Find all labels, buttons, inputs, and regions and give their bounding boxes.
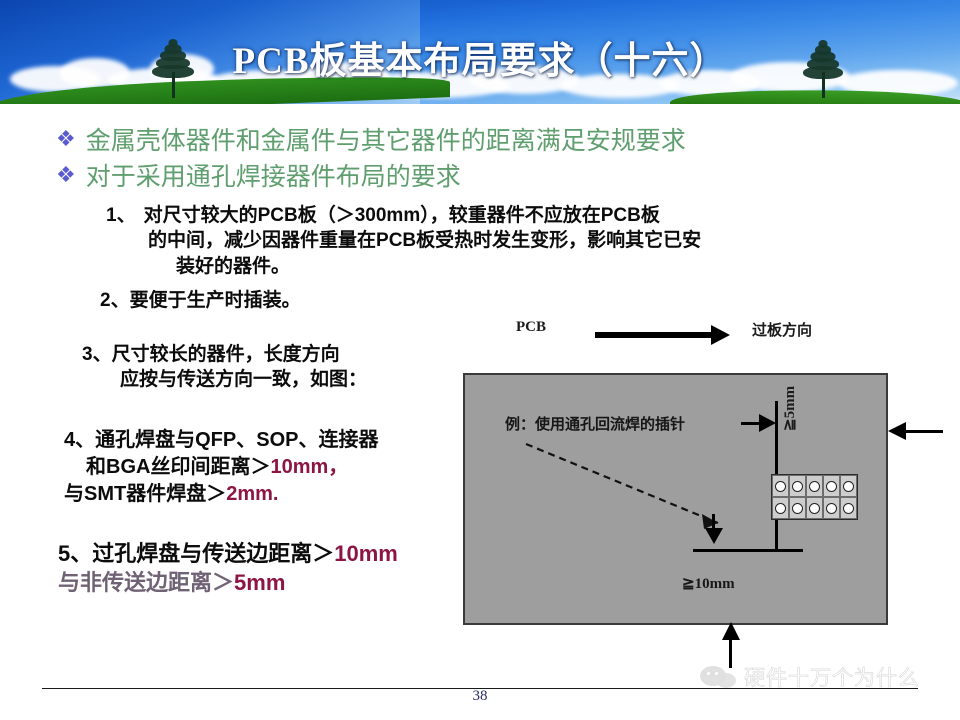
item-4-l1b: QFP、SOP <box>195 429 298 451</box>
item-3-line-1: 3、尺寸较长的器件，长度方向 <box>82 342 367 367</box>
bullet-item-1: ❖ 金属壳体器件和金属件与其它器件的距离满足安规要求 <box>56 128 686 156</box>
pin-cell <box>806 497 823 519</box>
pin-cell <box>823 475 840 497</box>
bottom-dim-line <box>693 549 803 552</box>
header-banner: PCB板基本布局要求（十六） <box>0 0 960 104</box>
page-title: PCB板基本布局要求（十六） <box>0 30 960 84</box>
item-2-label: 要便于生产时插装。 <box>130 290 301 311</box>
pin-cell <box>772 497 789 519</box>
item-1-line-3: 装好的器件。 <box>106 254 701 279</box>
item-1-l2a: 的中间，减少因器件重量在 <box>148 230 376 251</box>
watermark-label: 硬件十万个为什么 <box>744 662 920 692</box>
numbered-item-5: 5、过孔焊盘与传送边距离＞10mm 与非传送边距离＞5mm <box>58 539 398 598</box>
outer-right-arrow-stem <box>905 430 943 433</box>
inner-right-arrow-head <box>759 414 776 432</box>
pin-hole-icon <box>826 503 837 514</box>
item-4-dim-2mm: 2mm. <box>226 483 278 505</box>
diagram-pcb-label: PCB <box>516 319 546 336</box>
item-4-l2c: 丝印间距离＞ <box>150 456 270 478</box>
pin-hole-icon <box>809 503 820 514</box>
item-3-l1: 尺寸较长的器件，长度方向 <box>112 344 340 365</box>
pin-hole-icon <box>775 503 786 514</box>
item-4-l1a: 通孔焊盘与 <box>95 429 195 451</box>
item-1-l1e: ），较重器件不应放在 <box>420 205 601 226</box>
item-4-dim-10mm: 10mm， <box>270 456 348 478</box>
item-1-l1g: 板 <box>641 205 660 226</box>
item-1-number: 1、 <box>106 205 136 226</box>
item-1-l2c: 板受热时发生变形，影响其它已安 <box>416 230 701 251</box>
item-5-dim-10mm: 10mm <box>334 541 398 566</box>
item-4-line-3: 与SMT器件焊盘＞2mm. <box>64 481 378 508</box>
item-5-l2a: 与非传送边距离＞ <box>58 570 234 595</box>
item-4-number: 4、 <box>64 429 95 451</box>
item-5-line-1: 5、过孔焊盘与传送边距离＞10mm <box>58 539 398 568</box>
item-4-l2a: 和 <box>86 456 106 478</box>
diamond-bullet-icon: ❖ <box>56 128 76 153</box>
pin-hole-icon <box>792 503 803 514</box>
bottom-dim-arrow-stem <box>712 514 715 532</box>
watermark: 硬件十万个为什么 <box>700 662 920 692</box>
wechat-bubble-icon <box>700 664 740 690</box>
item-4-l3a: 与 <box>64 483 84 505</box>
item-3-l2: 应按与传送方向一致，如图： <box>120 369 367 390</box>
item-5-number: 5、 <box>58 541 92 566</box>
item-3-number: 3、 <box>82 344 112 365</box>
diagram-direction-label: 过板方向 <box>752 319 812 340</box>
item-4-l2b: BGA <box>106 456 150 478</box>
pin-hole-icon <box>843 503 854 514</box>
numbered-item-3: 3、尺寸较长的器件，长度方向 应按与传送方向一致，如图： <box>82 342 367 393</box>
pin-hole-icon <box>826 481 837 492</box>
item-5-l1a: 过孔焊盘与传送边距离＞ <box>92 541 334 566</box>
numbered-item-2: 2、要便于生产时插装。 <box>100 288 301 313</box>
item-4-l3b: SMT <box>84 483 126 505</box>
slide-root: PCB板基本布局要求（十六） ❖ 金属壳体器件和金属件与其它器件的距离满足安规要… <box>0 0 960 720</box>
item-4-line-1: 4、通孔焊盘与QFP、SOP、连接器 <box>64 427 378 454</box>
diagram-dim-right-label: ≧5mm <box>780 386 799 431</box>
through-hole-connector <box>771 474 858 520</box>
item-1-l2b: PCB <box>376 230 416 251</box>
pin-cell <box>772 475 789 497</box>
outer-right-arrow-head <box>888 422 906 440</box>
item-1-l1a: 对尺寸较大的 <box>144 205 258 226</box>
item-1-line-2: 的中间，减少因器件重量在PCB板受热时发生变形，影响其它已安 <box>106 228 701 253</box>
numbered-item-1: 1、对尺寸较大的PCB板（＞300mm），较重器件不应放在PCB板 的中间，减少… <box>106 203 701 279</box>
item-5-line-2: 与非传送边距离＞5mm <box>58 568 398 597</box>
item-4-l3c: 器件焊盘＞ <box>126 483 226 505</box>
pin-cell <box>806 475 823 497</box>
item-1-l3: 装好的器件。 <box>176 256 290 277</box>
item-4-l1c: 、连接器 <box>298 429 378 451</box>
pin-hole-icon <box>775 481 786 492</box>
direction-arrow-shaft <box>595 332 715 338</box>
pin-hole-icon <box>792 481 803 492</box>
bullet-item-2-label: 对于采用通孔焊接器件布局的要求 <box>86 164 461 192</box>
outer-bottom-arrow-head <box>722 622 740 640</box>
pin-cell <box>789 475 806 497</box>
direction-arrow-head <box>711 325 730 345</box>
diamond-bullet-icon: ❖ <box>56 164 76 189</box>
bullet-item-1-label: 金属壳体器件和金属件与其它器件的距离满足安规要求 <box>86 128 686 156</box>
pin-cell <box>840 497 857 519</box>
item-4-line-2: 和BGA丝印间距离＞10mm， <box>64 454 378 481</box>
pin-cell <box>789 497 806 519</box>
item-1-l1f: PCB <box>601 205 641 226</box>
item-5-dim-5mm: 5mm <box>234 570 285 595</box>
item-1-l1d: 300mm <box>355 205 421 226</box>
note-leader-line <box>518 430 758 540</box>
item-1-l1c: 板（＞ <box>298 205 355 226</box>
pin-hole-icon <box>809 481 820 492</box>
item-3-line-2: 应按与传送方向一致，如图： <box>82 367 367 392</box>
item-2-number: 2、 <box>100 290 130 311</box>
diagram-dim-bottom-label: ≧10mm <box>682 574 735 593</box>
item-1-line-1: 1、对尺寸较大的PCB板（＞300mm），较重器件不应放在PCB板 <box>106 203 701 228</box>
pin-cell <box>823 497 840 519</box>
item-1-l1b: PCB <box>258 205 298 226</box>
pin-cell <box>840 475 857 497</box>
pcb-diagram: PCB 过板方向 例：使用通孔回流焊的插针 ≧10mm ≧5mm <box>463 300 903 640</box>
pin-hole-icon <box>843 481 854 492</box>
numbered-item-4: 4、通孔焊盘与QFP、SOP、连接器 和BGA丝印间距离＞10mm， 与SMT器… <box>64 427 378 507</box>
bullet-item-2: ❖ 对于采用通孔焊接器件布局的要求 <box>56 164 461 192</box>
